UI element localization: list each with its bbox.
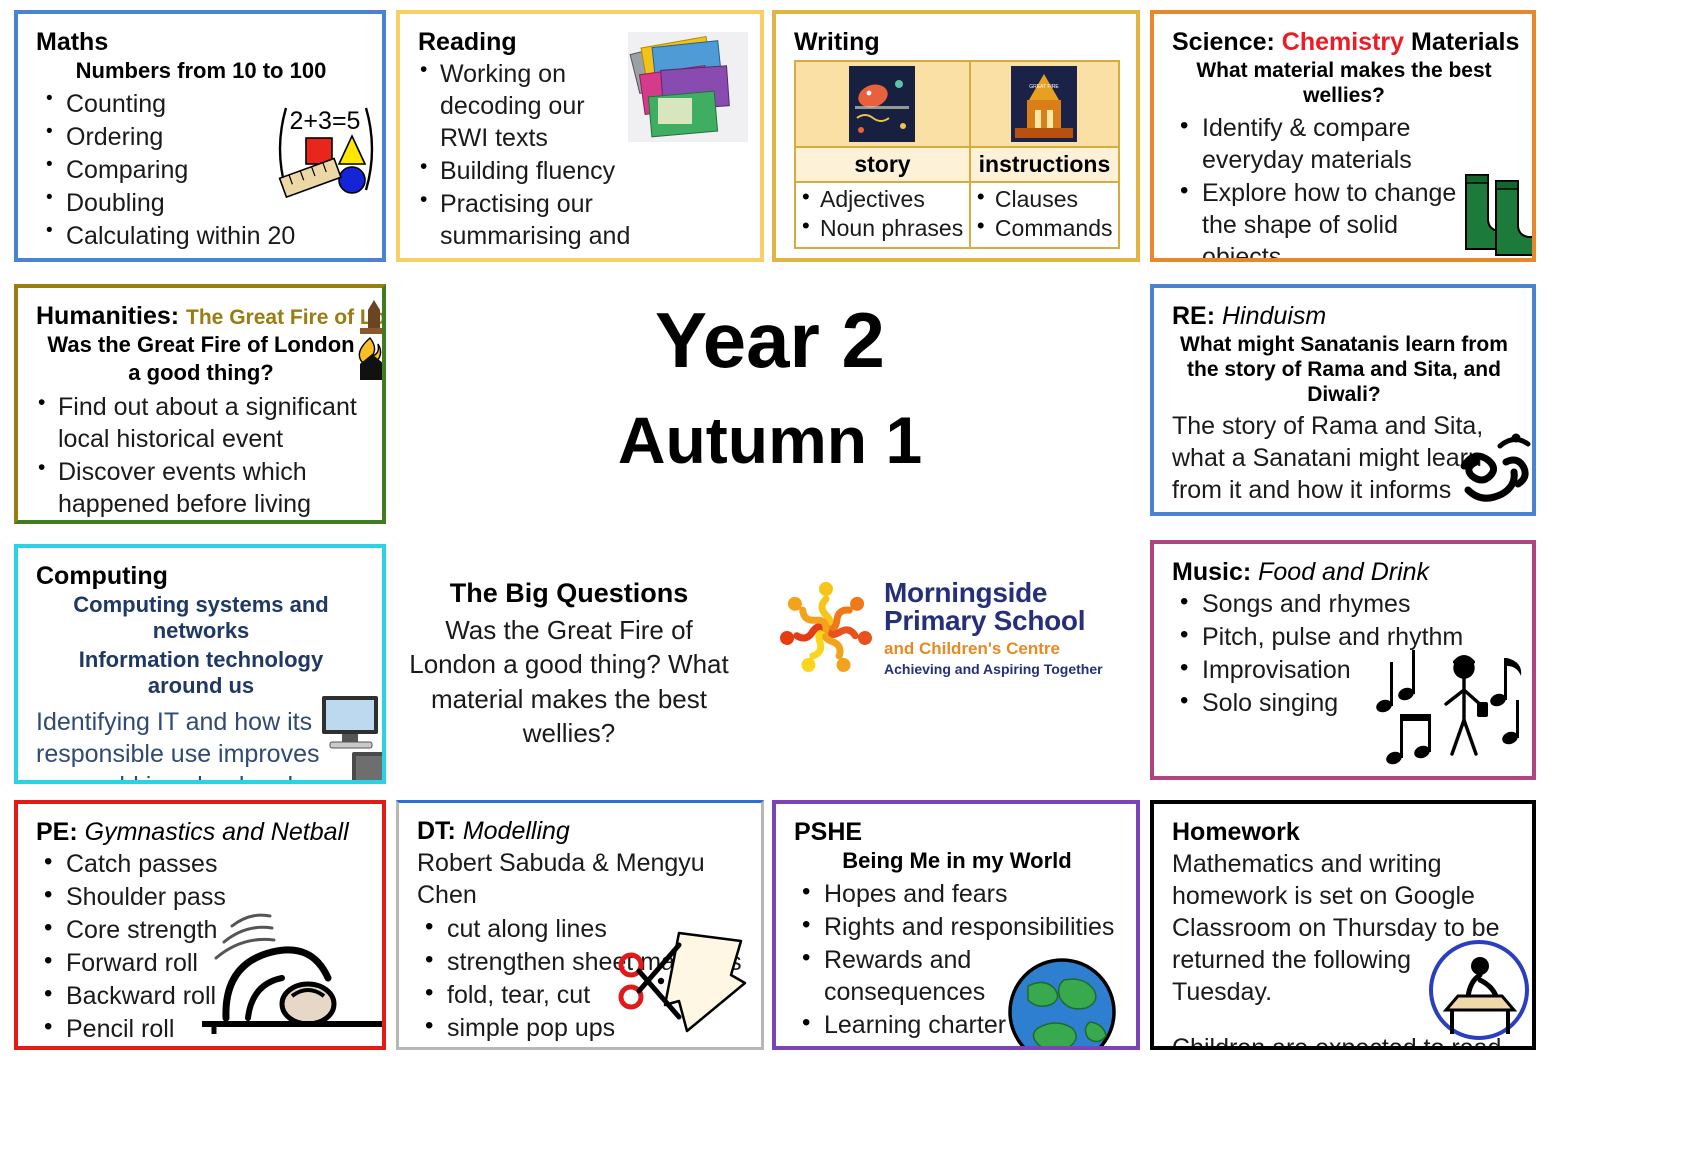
subject-card-computing: Computing Computing systems and networks… bbox=[14, 544, 386, 784]
table-row-covers: GREAT FIRE bbox=[795, 61, 1119, 147]
card-title-music: Music: Food and Drink bbox=[1172, 558, 1516, 586]
card-title-writing: Writing bbox=[794, 28, 1120, 56]
card-subtitle-humanities-line1: Was the Great Fire of London bbox=[36, 332, 366, 360]
somebody-swallowed-stanley-cover bbox=[849, 66, 915, 142]
list-item: Discover events which happened before li… bbox=[36, 456, 366, 524]
list-item: Catch passes bbox=[36, 848, 366, 880]
list-item: Pencil roll bbox=[36, 1013, 366, 1045]
list-item: Rewards and consequences bbox=[794, 944, 1120, 1008]
svg-text:GREAT FIRE: GREAT FIRE bbox=[1030, 84, 1060, 90]
list-item: strengthen sheet materials bbox=[417, 946, 745, 978]
card-subtitle-maths: Numbers from 10 to 100 bbox=[36, 58, 366, 86]
list-item: Rights and responsibilities bbox=[794, 911, 1120, 943]
big-questions-block: The Big Questions Was the Great Fire of … bbox=[404, 578, 734, 750]
list-item: Pitch, pulse and rhythm bbox=[1172, 621, 1516, 653]
list-item: Hopes and fears bbox=[794, 878, 1120, 910]
list-item: Songs and rhymes bbox=[1172, 588, 1516, 620]
writing-table: GREAT FIRE story instructions Adjectives… bbox=[794, 60, 1120, 249]
subject-card-humanities: Humanities: The Great Fire of London Was… bbox=[14, 284, 386, 524]
page-title-term: Autumn 1 bbox=[400, 404, 1140, 477]
card-title-homework: Homework bbox=[1172, 818, 1516, 846]
great-fire-of-london-cover: GREAT FIRE bbox=[1011, 66, 1077, 142]
curriculum-overview-page: Maths Numbers from 10 to 100 Counting Or… bbox=[0, 0, 1700, 1166]
humanities-title-prefix: Humanities: bbox=[36, 302, 186, 330]
maths-list: Counting Ordering Comparing Doubling Cal… bbox=[36, 88, 366, 252]
subject-card-pshe: PSHE Being Me in my World Hopes and fear… bbox=[772, 800, 1140, 1050]
list-item: Commands bbox=[975, 214, 1114, 243]
list-item: fold, tear, cut bbox=[417, 979, 745, 1011]
list-item: Backward roll bbox=[36, 980, 366, 1012]
subject-card-maths: Maths Numbers from 10 to 100 Counting Or… bbox=[14, 10, 386, 262]
list-item: Calculating within 20 bbox=[36, 220, 366, 252]
logo-line-3: and Children's Centre bbox=[884, 638, 1103, 660]
subject-card-dt: DT: Modelling Robert Sabuda & Mengyu Che… bbox=[396, 800, 764, 1050]
list-item: Improvisation bbox=[1172, 654, 1516, 686]
list-item: Building fluency bbox=[418, 155, 698, 187]
writing-column-header-story: story bbox=[795, 147, 970, 182]
list-item: Clauses bbox=[975, 185, 1114, 214]
list-item: Shoulder pass bbox=[36, 881, 366, 913]
writing-column-header-instructions: instructions bbox=[970, 147, 1119, 182]
list-item: Ordering bbox=[36, 121, 366, 153]
school-logo-text: Morningside Primary School and Children'… bbox=[884, 579, 1103, 678]
card-subtitle-computing-line1: Computing systems and networks bbox=[36, 592, 366, 647]
big-questions-text: Was the Great Fire of London a good thin… bbox=[404, 613, 734, 750]
science-title-highlight: Chemistry bbox=[1282, 28, 1404, 56]
list-item: Counting bbox=[36, 88, 366, 120]
science-title-prefix: Science: bbox=[1172, 28, 1282, 56]
card-subtitle-humanities-line2: a good thing? bbox=[36, 360, 366, 388]
card-title-reading: Reading bbox=[418, 28, 744, 56]
dt-list: cut along lines strengthen sheet materia… bbox=[417, 913, 745, 1044]
writing-cover-instructions: GREAT FIRE bbox=[970, 61, 1119, 147]
subject-card-writing: Writing bbox=[772, 10, 1140, 262]
dt-title-prefix: DT: bbox=[417, 817, 463, 845]
list-item: Core strength bbox=[36, 914, 366, 946]
card-subtitle-science: What material makes the best wellies? bbox=[1172, 58, 1516, 110]
subject-card-pe: PE: Gymnastics and Netball Catch passes … bbox=[14, 800, 386, 1050]
list-item: Learning charter bbox=[794, 1009, 1120, 1041]
info-card-homework: Homework Mathematics and writing homewor… bbox=[1150, 800, 1536, 1050]
card-title-maths: Maths bbox=[36, 28, 366, 56]
card-title-science: Science: Chemistry Materials bbox=[1172, 28, 1516, 56]
reading-list: Working on decoding our RWI texts Buildi… bbox=[418, 58, 698, 262]
subject-card-science: Science: Chemistry Materials What materi… bbox=[1150, 10, 1536, 262]
humanities-title-topic: The Great Fire of London bbox=[186, 306, 386, 329]
computing-body-text: Identifying IT and how its responsible u… bbox=[36, 706, 348, 784]
list-item: Working on decoding our RWI texts bbox=[418, 58, 633, 154]
card-subtitle-pshe: Being Me in my World bbox=[794, 848, 1120, 876]
dt-authors: Robert Sabuda & Mengyu Chen bbox=[417, 847, 745, 911]
list-item: Explore how to change the shape of solid… bbox=[1172, 177, 1480, 262]
writing-cell-story-items: Adjectives Noun phrases bbox=[795, 182, 970, 248]
list-item: Practising our summarising and comprehen… bbox=[418, 188, 698, 262]
card-title-humanities: Humanities: The Great Fire of London bbox=[36, 302, 366, 330]
list-item: cut along lines bbox=[417, 913, 745, 945]
card-title-pe: PE: Gymnastics and Netball bbox=[36, 818, 366, 846]
homework-paragraph-2: Children are expected to read for 20 min… bbox=[1172, 1032, 1516, 1050]
list-item: Comparing bbox=[36, 154, 366, 186]
homework-paragraph-1: Mathematics and writing homework is set … bbox=[1172, 848, 1516, 1008]
writing-cover-story bbox=[795, 61, 970, 147]
dt-title-topic: Modelling bbox=[463, 817, 570, 845]
card-subtitle-computing-line2: Information technology around us bbox=[36, 647, 366, 702]
card-title-pshe: PSHE bbox=[794, 818, 1120, 846]
card-title-re: RE: Hinduism bbox=[1172, 302, 1516, 330]
morningside-starburst-icon bbox=[772, 575, 880, 683]
writing-cell-instructions-items: Clauses Commands bbox=[970, 182, 1119, 248]
page-title-year: Year 2 bbox=[400, 300, 1140, 382]
list-item: Solo singing bbox=[1172, 687, 1516, 719]
list-item: Identify & compare everyday materials bbox=[1172, 112, 1480, 176]
center-title-block: Year 2 Autumn 1 bbox=[400, 300, 1140, 476]
music-list: Songs and rhymes Pitch, pulse and rhythm… bbox=[1172, 588, 1516, 719]
re-title-prefix: RE: bbox=[1172, 302, 1222, 330]
list-item: simple pop ups bbox=[417, 1012, 745, 1044]
card-title-computing: Computing bbox=[36, 562, 366, 590]
pe-list: Catch passes Shoulder pass Core strength… bbox=[36, 848, 366, 1045]
science-title-suffix: Materials bbox=[1404, 28, 1519, 56]
list-item: Noun phrases bbox=[800, 214, 965, 243]
humanities-list: Find out about a significant local histo… bbox=[36, 391, 366, 524]
pe-title-prefix: PE: bbox=[36, 818, 85, 846]
science-list: Identify & compare everyday materials Ex… bbox=[1172, 112, 1480, 262]
music-title-topic: Food and Drink bbox=[1258, 558, 1429, 586]
pshe-list: Hopes and fears Rights and responsibilit… bbox=[794, 878, 1120, 1041]
re-title-topic: Hinduism bbox=[1222, 302, 1326, 330]
subject-card-re: RE: Hinduism What might Sanatanis learn … bbox=[1150, 284, 1536, 516]
re-body-text: The story of Rama and Sita, what a Sanat… bbox=[1172, 410, 1516, 516]
subject-card-reading: Reading Working on decoding our RWI text… bbox=[396, 10, 764, 262]
logo-line-2: Primary School bbox=[884, 607, 1103, 636]
big-questions-title: The Big Questions bbox=[404, 578, 734, 609]
card-subtitle-re: What might Sanatanis learn from the stor… bbox=[1172, 332, 1516, 410]
logo-line-1: Morningside bbox=[884, 579, 1103, 608]
list-item: Doubling bbox=[36, 187, 366, 219]
subject-card-music: Music: Food and Drink Songs and rhymes P… bbox=[1150, 540, 1536, 780]
table-row-items: Adjectives Noun phrases Clauses Commands bbox=[795, 182, 1119, 248]
list-item: Adjectives bbox=[800, 185, 965, 214]
table-row-headers: story instructions bbox=[795, 147, 1119, 182]
list-item: Find out about a significant local histo… bbox=[36, 391, 366, 455]
card-title-dt: DT: Modelling bbox=[417, 817, 745, 845]
list-item: Forward roll bbox=[36, 947, 366, 979]
music-title-prefix: Music: bbox=[1172, 558, 1258, 586]
pe-title-topic: Gymnastics and Netball bbox=[85, 818, 349, 846]
school-logo: Morningside Primary School and Children'… bbox=[772, 566, 1132, 691]
logo-line-4: Achieving and Aspiring Together bbox=[884, 660, 1103, 678]
